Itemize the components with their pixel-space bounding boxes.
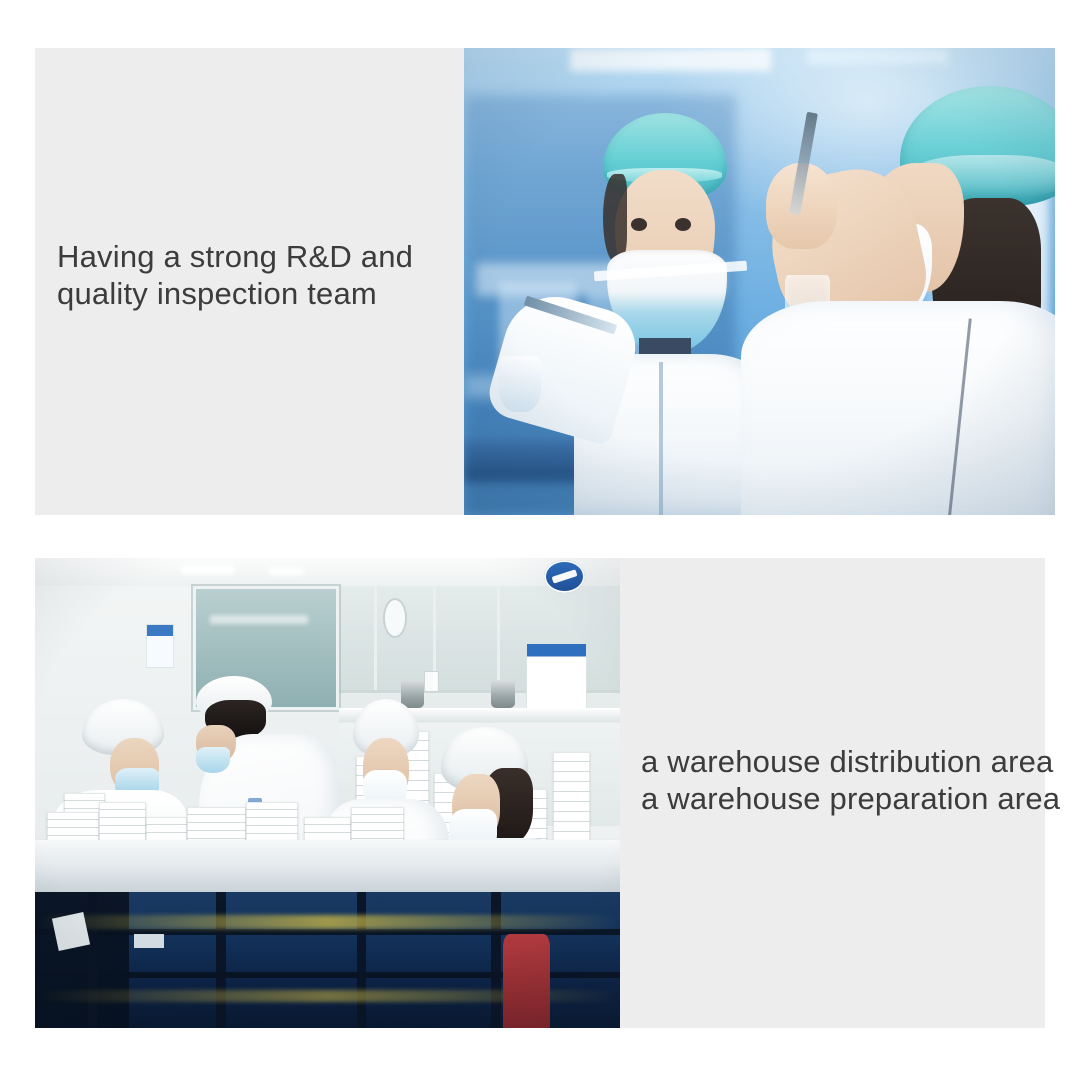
caption-line-1: a warehouse distribution area	[641, 743, 1041, 780]
photo-warehouse-packing-line	[35, 558, 620, 1028]
photo-vignette	[35, 558, 620, 1028]
caption-line-2: a warehouse preparation area	[641, 780, 1041, 817]
page-root: Having a strong R&D and quality inspecti…	[0, 0, 1080, 1080]
photo-laboratory-quality-inspection	[464, 48, 1055, 515]
caption-panel-right: a warehouse distribution area a warehous…	[620, 558, 1045, 1028]
section-warehouse: a warehouse distribution area a warehous…	[35, 558, 1045, 1028]
caption-warehouse: a warehouse distribution area a warehous…	[641, 743, 1041, 817]
photo-vignette	[464, 48, 1055, 515]
caption-line-2: quality inspection team	[57, 275, 457, 312]
caption-rd-quality: Having a strong R&D and quality inspecti…	[57, 238, 457, 312]
warehouse-scene	[35, 558, 620, 1028]
caption-panel-left: Having a strong R&D and quality inspecti…	[35, 48, 464, 515]
section-rd-quality: Having a strong R&D and quality inspecti…	[35, 48, 1055, 515]
laboratory-scene	[464, 48, 1055, 515]
caption-line-1: Having a strong R&D and	[57, 238, 457, 275]
